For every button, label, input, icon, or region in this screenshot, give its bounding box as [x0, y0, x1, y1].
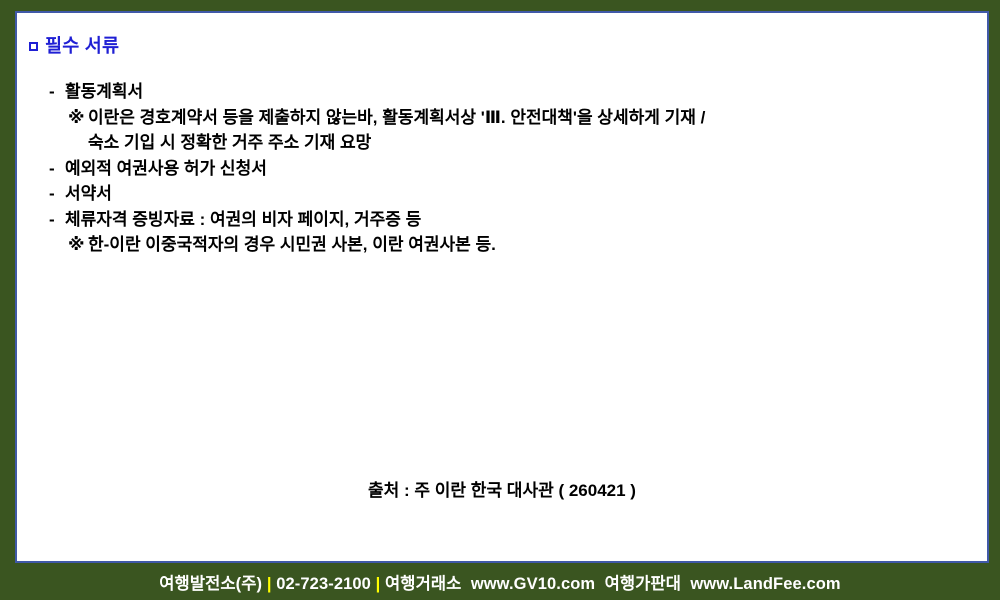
requirements-list: - 활동계획서 ※ 이란은 경호계약서 등을 제출하지 않는바, 활동계획서상 … [35, 79, 965, 258]
slide-frame: 필수 서류 - 활동계획서 ※ 이란은 경호계약서 등을 제출하지 않는바, 활… [0, 0, 1000, 600]
source-attribution: 출처 : 주 이란 한국 대사관 ( 260421 ) [17, 476, 987, 501]
page-title: 필수 서류 [29, 32, 119, 58]
footer-company-name: 여행발전소(주) [159, 570, 262, 594]
list-item-note-continuation: 숙소 기입 시 정확한 거주 주소 기재 요망 [35, 130, 965, 156]
footer-brand-2-url[interactable]: www.LandFee.com [690, 575, 840, 594]
footer-brand-1-name: 여행거래소 [385, 570, 461, 594]
list-item-label: 예외적 여권사용 허가 신청서 [65, 156, 267, 182]
slide-content-card: 필수 서류 - 활동계획서 ※ 이란은 경호계약서 등을 제출하지 않는바, 활… [15, 11, 989, 563]
list-item: - 활동계획서 [35, 79, 965, 105]
list-item-label: 이란은 경호계약서 등을 제출하지 않는바, 활동계획서상 'Ⅲ. 안전대책'을… [88, 105, 705, 131]
footer-gap-2 [595, 575, 604, 594]
list-item-note: ※ 한-이란 이중국적자의 경우 시민권 사본, 이란 여권사본 등. [35, 232, 965, 258]
footer-separator-2: | [371, 575, 385, 594]
list-item: - 체류자격 증빙자료 : 여권의 비자 페이지, 거주증 등 [35, 207, 965, 233]
footer-content: 여행발전소(주) | 02-723-2100 | 여행거래소 www.GV10.… [159, 570, 840, 594]
dash-marker: - [49, 79, 65, 105]
footer-gap-3 [681, 575, 690, 594]
footer-bar: 여행발전소(주) | 02-723-2100 | 여행거래소 www.GV10.… [0, 563, 1000, 600]
footer-phone[interactable]: 02-723-2100 [276, 575, 371, 594]
footer-brand-2-name: 여행가판대 [605, 570, 681, 594]
list-item-label: 한-이란 이중국적자의 경우 시민권 사본, 이란 여권사본 등. [88, 232, 496, 258]
list-item-label: 활동계획서 [65, 79, 143, 105]
dash-marker: - [49, 207, 65, 233]
page-title-label: 필수 서류 [45, 32, 119, 58]
reference-mark-icon: ※ [68, 105, 88, 131]
list-item: - 서약서 [35, 181, 965, 207]
list-item-note: ※ 이란은 경호계약서 등을 제출하지 않는바, 활동계획서상 'Ⅲ. 안전대책… [35, 105, 965, 131]
footer-brand-1-url[interactable]: www.GV10.com [471, 575, 595, 594]
footer-separator-1: | [262, 575, 276, 594]
list-item-label: 체류자격 증빙자료 : 여권의 비자 페이지, 거주증 등 [65, 207, 421, 233]
list-item-label: 숙소 기입 시 정확한 거주 주소 기재 요망 [88, 130, 371, 156]
list-item: - 예외적 여권사용 허가 신청서 [35, 156, 965, 182]
reference-mark-icon: ※ [68, 232, 88, 258]
list-item-label: 서약서 [65, 181, 112, 207]
dash-marker: - [49, 156, 65, 182]
hollow-square-bullet-icon [29, 42, 38, 51]
dash-marker: - [49, 181, 65, 207]
footer-gap-1 [461, 575, 470, 594]
